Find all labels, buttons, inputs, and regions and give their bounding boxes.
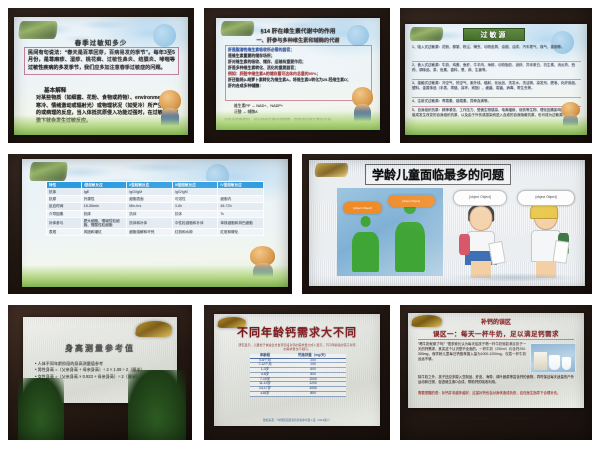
cell: 外源性 bbox=[81, 196, 127, 203]
school-emblem-icon bbox=[410, 27, 444, 41]
table-row: 反应时间 15-30min Min-hrs 3-8h 48-72h bbox=[47, 203, 264, 210]
girl-student-figure bbox=[461, 206, 501, 278]
cell: 红斑和硬化 bbox=[218, 228, 264, 235]
table-row: ≥18岁 800 bbox=[250, 391, 346, 396]
foliage-decoration bbox=[18, 378, 64, 440]
allergen-item: 2、食入式过敏源：牛奶、鸡蛋、鱼虾、牛羊肉、海鲜、动物脂肪、酒精、异体蛋白、抗生… bbox=[412, 63, 581, 74]
divider bbox=[418, 339, 574, 340]
calcium-requirement-table: 年龄段 钙推荐量（mg/天） 0-6个月 200 7-12个月 250 1-3岁 bbox=[250, 354, 346, 397]
table-row: 抗原 外源性 细胞表面 可溶性 细胞内 bbox=[47, 196, 264, 203]
cell: 肥大细胞、嗜碱性粒细胞、嗜酸性粒细胞 bbox=[81, 217, 127, 228]
formula-list: 维生素PP → NAD+、NADP+ 泛酸 → 辅酶A bbox=[234, 104, 283, 116]
lion-cub-mascot-icon bbox=[157, 90, 183, 130]
panel-2-vitamin-metabolism[interactable]: §14 肝在维生素代谢中的作用 一、肝参与多种维生素和辅酶的代谢 肝是脂溶性维生… bbox=[204, 8, 390, 143]
table-row: 表现 风团和潮红 细胞溶解和坏死 红斑和水肿 红斑和硬化 bbox=[47, 228, 264, 235]
projection-screen: 特性 I型超敏反应 II型超敏反应 III型超敏反应 IV型超敏反应 抗体 Ig… bbox=[22, 159, 288, 287]
school-emblem-icon bbox=[29, 162, 68, 181]
slide-subtitle: 一、肝参与多种维生素和辅酶的代谢 bbox=[216, 37, 380, 44]
cell: 800 bbox=[280, 391, 346, 396]
speech-bubble: [object Object] bbox=[517, 190, 575, 206]
panel-1-spring-allergy[interactable]: 春季过敏知多少 民间有句说法：“春天是百草回芽，百病易发的季节”。每年3至5月份… bbox=[8, 8, 194, 143]
tall-child-silhouette bbox=[392, 202, 428, 272]
cell: 抗体 bbox=[47, 189, 82, 196]
column-header: IV型超敏反应 bbox=[218, 182, 264, 189]
projection-screen: 不同年龄钙需求大不同 研究显示，儿童处于快速生长发育阶段对钙的需求量比成人更高，… bbox=[214, 314, 380, 426]
milk-product-photo bbox=[530, 343, 576, 373]
cell: 介导因素 bbox=[47, 210, 82, 217]
exam-paper-icon bbox=[488, 241, 505, 265]
bullet-item: 肝内合成多种辅酶： bbox=[228, 83, 369, 89]
cell: 细胞溶解和坏死 bbox=[127, 228, 173, 235]
cell: 风团和潮红 bbox=[81, 228, 127, 235]
data-source-note: 数据来源：《中国居民膳食营养素参考摄入量（2013版）》 bbox=[214, 418, 380, 422]
cell: IgG/IgM bbox=[127, 189, 173, 196]
cell: IgG/IgM bbox=[172, 189, 218, 196]
formula-item: 泛酸 → 辅酶A bbox=[234, 110, 283, 116]
slide-title: 不同年龄钙需求大不同 bbox=[214, 324, 380, 340]
lion-cub-mascot-icon bbox=[560, 102, 582, 131]
projection-screen: §14 肝在维生素代谢中的作用 一、肝参与多种维生素和辅酶的代谢 肝是脂溶性维生… bbox=[216, 18, 380, 130]
cell: 细胞表面 bbox=[127, 196, 173, 203]
cell: 单核细胞和淋巴细胞 bbox=[218, 217, 264, 228]
body-paragraph-highlight: 需要提醒的是：补钙并非越多越好，过量补钙也会对身体造成负担，应在医生指导下合理补… bbox=[418, 391, 574, 396]
table-row: 介导因素 抗体 抗体 抗体 Tc bbox=[47, 210, 264, 217]
hypersensitivity-table: 特性 I型超敏反应 II型超敏反应 III型超敏反应 IV型超敏反应 抗体 Ig… bbox=[46, 181, 264, 236]
cell bbox=[218, 189, 264, 196]
short-child-silhouette bbox=[350, 216, 382, 272]
slide-title: 学龄儿童面临最多的问题 bbox=[365, 164, 511, 185]
body-paragraph: “喝牛奶就够了吗？”很多家长认为每天给孩子喝一杯牛奶就能满足孩子一天的钙需求，其… bbox=[418, 342, 526, 362]
cell: 可溶性 bbox=[172, 196, 218, 203]
wing-emblem-logo-icon bbox=[135, 321, 173, 337]
header-badge: 过敏源 bbox=[463, 28, 525, 41]
milk-carton-icon bbox=[534, 352, 547, 369]
photo-collage: 春季过敏知多少 民间有句说法：“春天是百草回芽，百病易发的季节”。每年3至5月份… bbox=[0, 0, 600, 450]
table-header-row: 特性 I型超敏反应 II型超敏反应 III型超敏反应 IV型超敏反应 bbox=[47, 182, 264, 189]
panel-4-hypersensitivity-table[interactable]: 特性 I型超敏反应 II型超敏反应 III型超敏反应 IV型超敏反应 抗体 Ig… bbox=[8, 154, 292, 294]
cell: 48-72h bbox=[218, 203, 264, 210]
cell: 补体参与 bbox=[47, 217, 82, 228]
cell: 中性粒细胞和补体 bbox=[172, 217, 218, 228]
cell: 红斑和水肿 bbox=[172, 228, 218, 235]
slide-subtitle: 研究显示，儿童处于快速生长发育阶段对钙的需求量比成人更高，不同年龄段的孩子对钙的… bbox=[238, 344, 356, 352]
allergen-item: 3、接触式过敏源：冷空气、热空气、紫外线、辐射、化妆品、洗发水、洗洁精、染发剂、… bbox=[412, 81, 581, 92]
cell: 抗体和补体 bbox=[127, 217, 173, 228]
column-header: III型超敏反应 bbox=[172, 182, 218, 189]
silhouette-illustration: [object Object] [object Object] bbox=[337, 188, 443, 276]
milk-glass-icon bbox=[562, 357, 572, 370]
table-row: 补体参与 肥大细胞、嗜碱性粒细胞、嗜酸性粒细胞 抗体和补体 中性粒细胞和补体 单… bbox=[47, 217, 264, 228]
speech-bubble: [object Object] bbox=[453, 190, 507, 206]
column-header: II型超敏反应 bbox=[127, 182, 173, 189]
divider bbox=[412, 79, 581, 80]
projection-screen: 补钙的误区 误区一：每天一杯牛奶，足以满足钙需求 “喝牛奶就够了吗？”很多家长认… bbox=[408, 313, 584, 408]
panel-3-allergen-sources[interactable]: 过敏源 1、吸入式过敏源：花粉、柳絮、粉尘、螨虫、动物皮屑、油烟、油漆、汽车尾气… bbox=[400, 8, 592, 143]
cell: 15-30min bbox=[81, 203, 127, 210]
exam-paper-icon bbox=[553, 241, 570, 265]
cell: Min-hrs bbox=[127, 203, 173, 210]
backpack-icon bbox=[459, 234, 469, 256]
cell: Tc bbox=[218, 210, 264, 217]
projection-screen: 春季过敏知多少 民间有句说法：“春天是百草回芽，百病易发的季节”。每年3至5月份… bbox=[14, 17, 188, 135]
projection-screen: 过敏源 1、吸入式过敏源：花粉、柳絮、粉尘、螨虫、动物皮屑、油烟、油漆、汽车尾气… bbox=[405, 24, 587, 135]
cell: 抗体 bbox=[81, 210, 127, 217]
panel-5-school-age-problems[interactable]: 学龄儿童面临最多的问题 [object Object] [object Obje… bbox=[302, 154, 592, 294]
panel-8-calcium-myth[interactable]: 补钙的误区 误区一：每天一杯牛奶，足以满足钙需求 “喝牛奶就够了吗？”很多家长认… bbox=[400, 305, 592, 440]
foliage-decoration bbox=[128, 370, 186, 440]
divider bbox=[412, 106, 581, 107]
slide-title: 春季过敏知多少 bbox=[14, 37, 188, 47]
ground-shadow bbox=[449, 273, 579, 282]
column-header: I型超敏反应 bbox=[81, 182, 127, 189]
slide-subtitle: 误区一：每天一杯牛奶，足以满足钙需求 bbox=[408, 328, 584, 338]
panel-7-calcium-by-age[interactable]: 不同年龄钙需求大不同 研究显示，儿童处于快速生长发育阶段对钙的需求量比成人更高，… bbox=[204, 305, 390, 440]
table-row: 抗体 IgE IgG/IgM IgG/IgM bbox=[47, 189, 264, 196]
cell: 表现 bbox=[47, 228, 82, 235]
lion-cub-mascot-icon bbox=[351, 87, 376, 125]
cell: IgE bbox=[81, 189, 127, 196]
school-emblem-icon bbox=[18, 21, 58, 39]
projection-screen: 学龄儿童面临最多的问题 [object Object] [object Obje… bbox=[309, 160, 585, 286]
column-header: 特性 bbox=[47, 182, 82, 189]
speech-bubble: [object Object] bbox=[388, 195, 435, 207]
body-paragraph: 除牛奶之外，孩子还应多摄入豆制品、虾皮、海带、绿叶蔬菜等富含钙的食物，同时保证每… bbox=[418, 375, 574, 385]
speech-bubble: [object Object] bbox=[343, 202, 381, 214]
slide-title: §14 肝在维生素代谢中的作用 bbox=[216, 26, 380, 35]
lion-cub-mascot-icon bbox=[248, 246, 277, 284]
divider bbox=[412, 97, 581, 98]
panel-6-height-reference[interactable]: 身高测量参考值 • 人体不同年龄阶段的身高测量值参考 • 男性身高 =（父亲身高… bbox=[8, 305, 192, 440]
bullet-list: 肝是脂溶性维生素吸收所必需的器官； 是维生素重要的储存场所； 肝对维生素的吸收、… bbox=[228, 47, 369, 89]
sun-graphic bbox=[551, 31, 575, 55]
cell: 抗体 bbox=[127, 210, 173, 217]
boy-student-figure bbox=[525, 204, 567, 278]
slide-footnote: 当肝功能受损时，可出现维生素代谢障碍，导致相应维生素缺乏症。 bbox=[224, 118, 372, 124]
allergen-item: 1、吸入式过敏源：花粉、柳絮、粉尘、螨虫、动物皮屑、油烟、油漆、汽车尾气、煤气、… bbox=[412, 45, 581, 50]
formula-item: 维生素PP → NAD+、NADP+ bbox=[234, 104, 283, 110]
cell: 反应时间 bbox=[47, 203, 82, 210]
cell: 抗体 bbox=[172, 210, 218, 217]
cell: 3-8h bbox=[172, 203, 218, 210]
cell: 细胞内 bbox=[218, 196, 264, 203]
quote-box: 民间有句说法：“春天是百草回芽，百病易发的季节”。每年3至5月份，是荨麻疹、湿疹… bbox=[24, 47, 179, 75]
slide-title: 身高测量参考值 bbox=[23, 343, 177, 354]
slide-title: 补钙的误区 bbox=[408, 317, 584, 326]
milk-glass-icon bbox=[549, 355, 560, 370]
school-emblem-icon bbox=[314, 163, 349, 177]
allergen-item: 4、注射式过敏源：青霉素、链霉素、异种血清等。 bbox=[412, 99, 581, 104]
cell: ≥18岁 bbox=[250, 391, 280, 396]
divider bbox=[412, 61, 581, 62]
allergen-item: 5、自身组织抗原：精神紧张、工作压力、受微生物感染、电离辐射、烧伤等生物、理化因… bbox=[412, 108, 581, 119]
cell: 抗原 bbox=[47, 196, 82, 203]
